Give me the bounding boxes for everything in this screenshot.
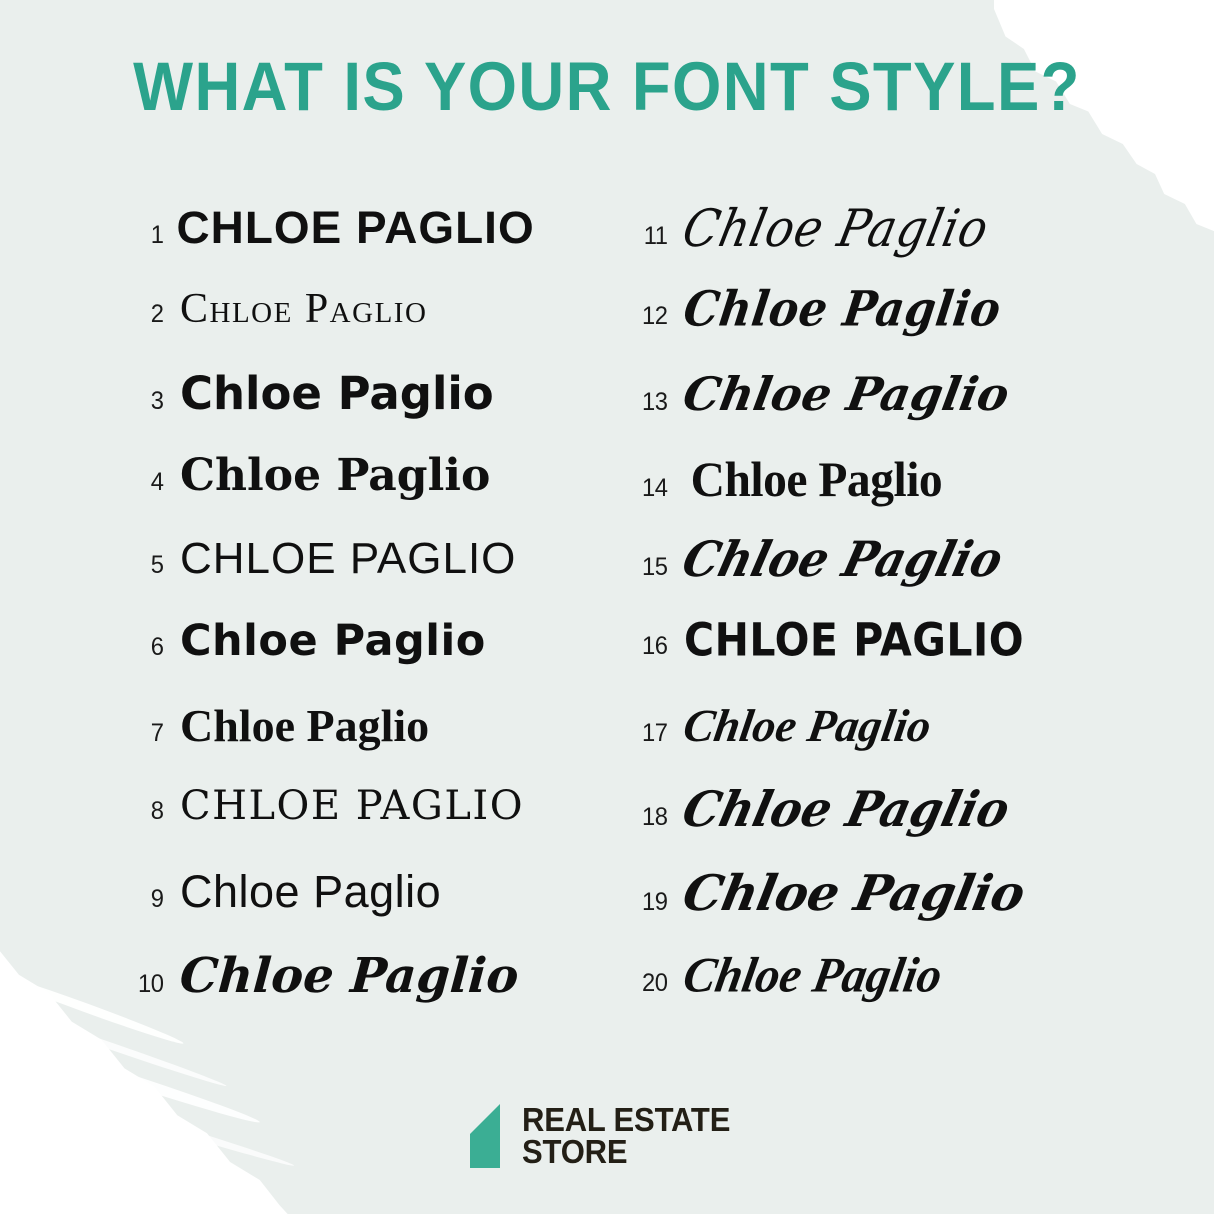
specimen-column-left: 1 CHLOE PAGLIO 2 Chloe Paglio 3 Chloe Pa… xyxy=(0,205,566,1035)
brand-logo: REAL ESTATE STORE xyxy=(0,1104,1214,1168)
specimen-row[interactable]: 18 Chloe Paglio xyxy=(632,786,1126,869)
specimen-number: 5 xyxy=(129,551,178,580)
specimen-sample: Chloe Paglio xyxy=(691,454,943,504)
specimen-sample: Chloe Paglio xyxy=(678,535,1008,584)
page-title: WHAT IS YOUR FONT STYLE? xyxy=(49,47,1166,126)
brand-line-2: STORE xyxy=(522,1136,730,1168)
specimen-row[interactable]: 9 Chloe Paglio xyxy=(128,869,566,952)
house-arrow-icon xyxy=(470,1104,510,1168)
specimen-sample: Chloe Paglio xyxy=(681,286,1004,334)
specimen-row[interactable]: 17 Chloe Paglio xyxy=(632,703,1126,786)
specimen-row[interactable]: 13 Chloe Paglio xyxy=(632,371,1126,454)
specimen-sample: Chloe Paglio xyxy=(180,703,429,749)
torn-edge-top-right-wisp xyxy=(1034,2,1154,26)
specimen-number: 7 xyxy=(129,719,178,748)
specimen-sample: Chloe Paglio xyxy=(180,371,494,416)
specimen-number: 1 xyxy=(129,221,178,250)
specimen-row[interactable]: 14 Chloe Paglio xyxy=(632,454,1126,537)
brand-wordmark: REAL ESTATE STORE xyxy=(522,1104,744,1167)
specimen-row[interactable]: 12 Chloe Paglio xyxy=(632,288,1126,371)
specimen-row[interactable]: 8 CHLOE PAGLIO xyxy=(128,786,566,869)
specimen-row[interactable]: 10 Chloe Paglio xyxy=(128,952,566,1035)
specimen-row[interactable]: 15 Chloe Paglio xyxy=(632,537,1126,620)
specimen-number: 8 xyxy=(129,797,178,826)
specimen-number: 19 xyxy=(633,888,682,917)
specimen-row[interactable]: 1 CHLOE PAGLIO xyxy=(128,205,566,288)
specimen-sample: Chloe Paglio xyxy=(678,785,1014,834)
specimen-row[interactable]: 16 CHLOE PAGLIO xyxy=(632,620,1126,703)
specimen-sample: CHLOE PAGLIO xyxy=(180,786,524,826)
specimen-number: 18 xyxy=(633,803,682,832)
specimen-sample: Chloe Paglio xyxy=(178,952,520,1000)
specimen-number: 4 xyxy=(129,468,178,497)
specimen-sample: CHLOE PAGLIO xyxy=(180,537,516,581)
brand-logo-inner: REAL ESTATE STORE xyxy=(470,1104,744,1168)
specimen-number: 6 xyxy=(129,633,178,662)
specimen-sample: CHLOE PAGLIO xyxy=(684,618,1024,663)
specimen-number: 3 xyxy=(129,387,178,416)
specimen-number: 17 xyxy=(633,719,682,748)
specimen-row[interactable]: 3 Chloe Paglio xyxy=(128,371,566,454)
specimen-number: 2 xyxy=(129,300,178,329)
specimen-number: 12 xyxy=(633,302,682,331)
specimen-sample: Chloe Paglio xyxy=(680,703,934,749)
specimen-sample: Chloe Paglio xyxy=(679,869,1028,918)
specimen-number: 11 xyxy=(633,222,682,251)
specimen-sample: Chloe Paglio xyxy=(180,620,486,663)
specimen-column-right: 11 Chloe Paglio 12 Chloe Paglio 13 Chloe… xyxy=(566,205,1126,1035)
font-specimen-list: 1 CHLOE PAGLIO 2 Chloe Paglio 3 Chloe Pa… xyxy=(0,205,1214,1035)
specimen-row[interactable]: 20 Chloe Paglio xyxy=(632,952,1126,1035)
specimen-number: 20 xyxy=(633,969,682,998)
specimen-number: 16 xyxy=(633,632,682,661)
specimen-sample: Chloe Paglio xyxy=(180,454,490,498)
specimen-row[interactable]: 2 Chloe Paglio xyxy=(128,288,566,371)
specimen-number: 15 xyxy=(633,553,682,582)
poster-canvas: WHAT IS YOUR FONT STYLE? 1 CHLOE PAGLIO … xyxy=(0,0,1214,1214)
specimen-sample: Chloe Paglio xyxy=(679,202,994,254)
specimen-number: 13 xyxy=(633,388,682,417)
specimen-row[interactable]: 6 Chloe Paglio xyxy=(128,620,566,703)
specimen-sample: Chloe Paglio xyxy=(680,951,946,1001)
specimen-number: 14 xyxy=(633,474,682,503)
specimen-row[interactable]: 5 CHLOE PAGLIO xyxy=(128,537,566,620)
specimen-row[interactable]: 7 Chloe Paglio xyxy=(128,703,566,786)
brand-line-1: REAL ESTATE xyxy=(522,1104,730,1136)
specimen-sample: CHLOE PAGLIO xyxy=(176,205,534,250)
specimen-row[interactable]: 11 Chloe Paglio xyxy=(632,205,1126,288)
specimen-sample: Chloe Paglio xyxy=(680,371,1013,417)
specimen-number: 9 xyxy=(129,885,178,914)
specimen-sample: Chloe Paglio xyxy=(180,869,441,914)
specimen-row[interactable]: 4 Chloe Paglio xyxy=(128,454,566,537)
specimen-number: 10 xyxy=(129,970,178,999)
specimen-sample: Chloe Paglio xyxy=(180,288,427,330)
specimen-row[interactable]: 19 Chloe Paglio xyxy=(632,869,1126,952)
